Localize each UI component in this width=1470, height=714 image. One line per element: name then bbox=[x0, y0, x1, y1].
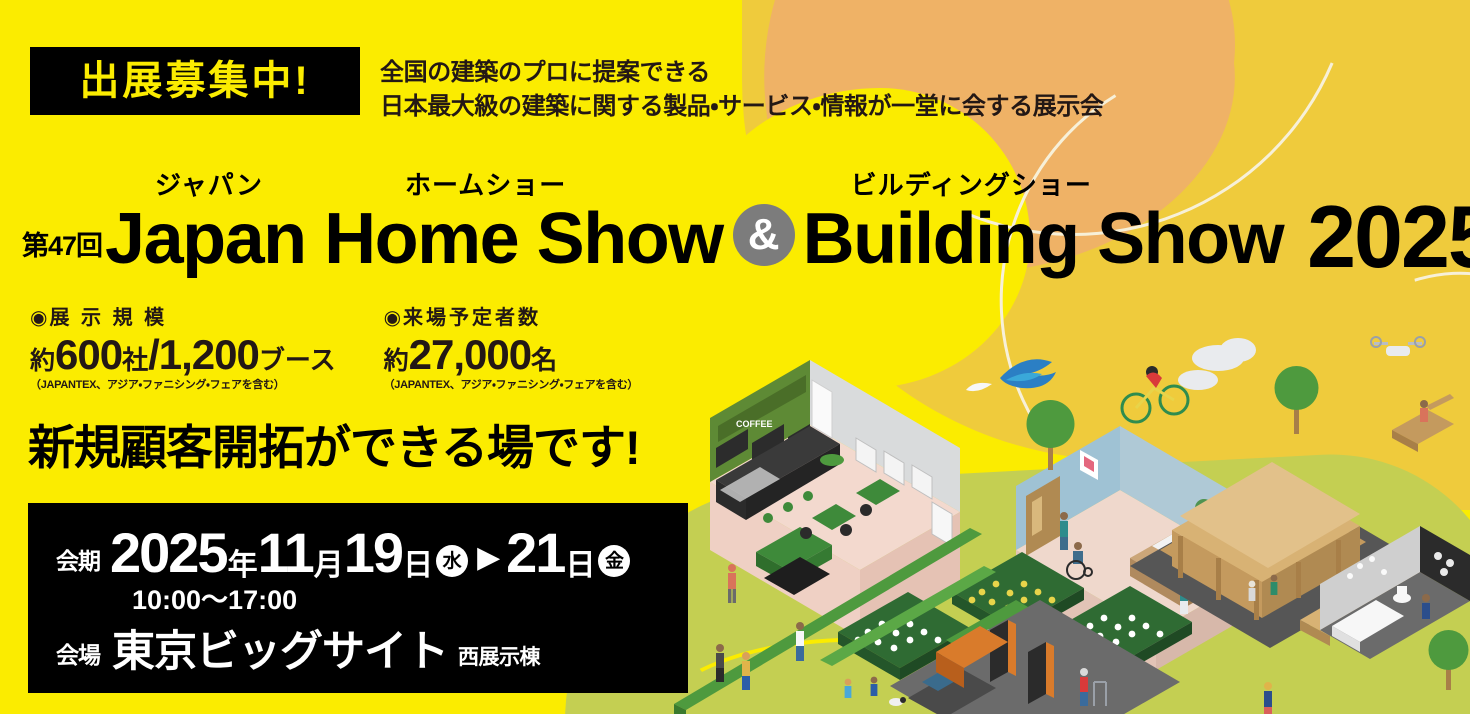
venue-label: 会場 bbox=[56, 644, 100, 667]
isometric-illustration: COFFEE bbox=[660, 330, 1470, 714]
logo-ampersand: & bbox=[733, 204, 795, 266]
slogan-text: 新規顧客開拓ができる場です! bbox=[28, 424, 640, 471]
date-year: 2025 bbox=[110, 525, 227, 581]
logo-building-show: ビルディングショー Building Show bbox=[803, 206, 1283, 272]
stat-prefix: 約 bbox=[384, 347, 409, 375]
bicycle-rider bbox=[1122, 366, 1188, 422]
stat-unit-2: ブース bbox=[259, 345, 336, 375]
date-month: 11 bbox=[258, 525, 313, 581]
drone bbox=[1371, 337, 1425, 356]
tagline: 全国の建築のプロに提案できる 日本最大級の建築に関する製品・サービス・情報が一堂… bbox=[380, 56, 1170, 124]
stats-row: ◉展 示 規 模 約600社/1,200ブース （JAPANTEX、アジア・ファ… bbox=[30, 308, 638, 391]
person-with-tablet bbox=[1264, 682, 1272, 714]
tree-3 bbox=[1429, 630, 1469, 690]
tree-2 bbox=[1275, 366, 1319, 434]
stat-main: 600 bbox=[55, 331, 122, 378]
stat-heading: ◉来場予定者数 bbox=[384, 308, 639, 328]
target-icon: ◉ bbox=[30, 307, 47, 329]
stat-expected-visitors: ◉来場予定者数 約27,000名 （JAPANTEX、アジア・ファニシング・フェ… bbox=[384, 308, 639, 391]
venue-name: 東京ビッグサイト bbox=[112, 631, 448, 674]
event-logo: 第47回 ジャパン ホームショー Japan Home Show & ビルディン… bbox=[22, 162, 1442, 272]
event-info-box: 会期 2025 年 11 月 19 日 水 ▶ 21 日 金 10:00〜17:… bbox=[28, 503, 688, 693]
event-time: 10:00〜17:00 bbox=[132, 587, 297, 614]
date-dow-start: 水 bbox=[436, 545, 468, 577]
date-day-start: 19 bbox=[344, 525, 402, 581]
event-venue-row: 会場 東京ビッグサイト 西展示棟 bbox=[56, 631, 540, 674]
stat-heading: ◉展 示 規 模 bbox=[30, 308, 336, 328]
cloud-2 bbox=[1178, 370, 1218, 390]
stat-heading-label: 展 示 規 模 bbox=[49, 307, 167, 329]
date-dow-end: 金 bbox=[598, 545, 630, 577]
date-day-end: 21 bbox=[506, 525, 564, 581]
tagline-line-2: 日本最大級の建築に関する製品・サービス・情報が一堂に会する展示会 bbox=[380, 90, 1170, 124]
date-label: 会期 bbox=[56, 550, 100, 573]
recruiting-badge-label: 出展募集中! bbox=[79, 61, 310, 101]
event-date-row: 会期 2025 年 11 月 19 日 水 ▶ 21 日 金 bbox=[56, 525, 633, 581]
logo-edition: 第47回 bbox=[22, 233, 102, 260]
stat-unit: 名 bbox=[531, 345, 557, 375]
person-figure bbox=[728, 564, 736, 603]
logo-home-show: ジャパン ホームショー Japan Home Show bbox=[105, 206, 723, 272]
logo-home-ruby-show: ホームショー bbox=[405, 172, 566, 198]
stat-value: 約27,000名 bbox=[384, 334, 639, 376]
stat-note: （JAPANTEX、アジア・ファニシング・フェアを含む） bbox=[30, 380, 336, 391]
stat-heading-label: 来場予定者数 bbox=[403, 307, 541, 329]
bathroom-worker bbox=[1422, 594, 1430, 619]
date-year-unit: 年 bbox=[228, 551, 258, 581]
logo-building-main: Building Show bbox=[803, 206, 1283, 272]
tagline-line-1: 全国の建築のプロに提案できる bbox=[380, 56, 1170, 90]
stat-separator: / bbox=[148, 331, 159, 378]
logo-building-ruby-show: ビルディングショー bbox=[851, 172, 1092, 198]
svg-text:COFFEE: COFFEE bbox=[736, 419, 773, 429]
dog bbox=[889, 697, 906, 706]
date-day-end-unit: 日 bbox=[565, 551, 595, 581]
flying-bird bbox=[966, 359, 1056, 391]
construction-worker-2 bbox=[1271, 575, 1278, 595]
target-icon: ◉ bbox=[384, 307, 401, 329]
date-range-arrow-icon: ▶ bbox=[477, 543, 500, 573]
stat-value: 約600社/1,200ブース bbox=[30, 334, 336, 376]
clinic-staff-1 bbox=[1060, 512, 1068, 550]
date-month-unit: 月 bbox=[314, 551, 344, 581]
stat-prefix: 約 bbox=[30, 347, 55, 375]
venue-hall: 西展示棟 bbox=[458, 647, 540, 668]
stat-note: （JAPANTEX、アジア・ファニシング・フェアを含む） bbox=[384, 380, 639, 391]
stat-main-2: 1,200 bbox=[159, 331, 259, 378]
construction-worker-1 bbox=[1249, 581, 1256, 601]
stat-unit: 社 bbox=[122, 345, 148, 375]
date-day-unit: 日 bbox=[403, 551, 433, 581]
cloud-1 bbox=[1192, 338, 1256, 371]
recruiting-badge: 出展募集中! bbox=[30, 47, 360, 115]
stat-main: 27,000 bbox=[409, 331, 531, 378]
stat-exhibition-scale: ◉展 示 規 模 約600社/1,200ブース （JAPANTEX、アジア・ファ… bbox=[30, 308, 336, 391]
coffee-shop-interior: COFFEE bbox=[710, 360, 960, 638]
promo-banner: COFFEE bbox=[0, 0, 1470, 714]
logo-year: 2025 bbox=[1307, 197, 1470, 276]
logo-home-main: Japan Home Show bbox=[105, 206, 723, 272]
logo-home-ruby-brand: ジャパン bbox=[155, 172, 263, 198]
park-bench bbox=[1392, 394, 1454, 452]
